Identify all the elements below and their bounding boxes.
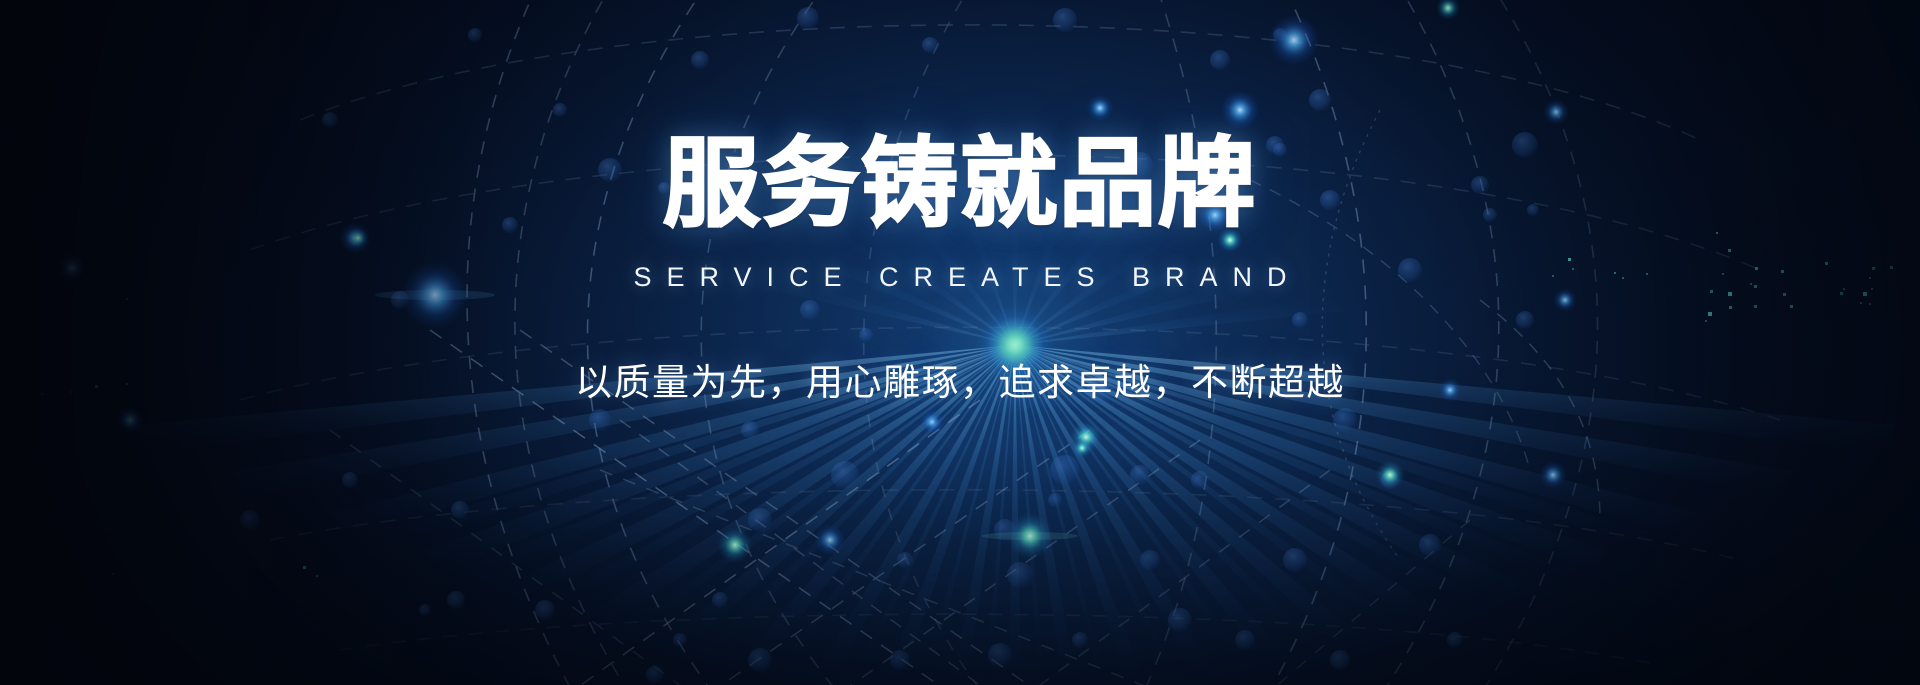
right-shadow-overlay — [0, 0, 1920, 685]
center-burst-glow — [0, 0, 1920, 685]
dashed-globe-arcs — [0, 0, 1920, 685]
bottom-shadow-overlay — [0, 0, 1920, 685]
banner-tagline: 以质量为先，用心雕琢，追求卓越，不断超越 — [0, 352, 1920, 406]
banner-subtitle-english: SERVICE CREATES BRAND — [0, 262, 1920, 293]
banner-headline: 服务铸就品牌 — [0, 133, 1920, 236]
radial-light-rays — [0, 0, 1920, 685]
left-shadow-overlay — [0, 0, 1920, 685]
hero-banner: 服务铸就品牌 SERVICE CREATES BRAND 以质量为先，用心雕琢，… — [0, 0, 1920, 685]
particles-and-bokeh — [0, 0, 1920, 685]
vignette-overlay — [0, 0, 1920, 685]
